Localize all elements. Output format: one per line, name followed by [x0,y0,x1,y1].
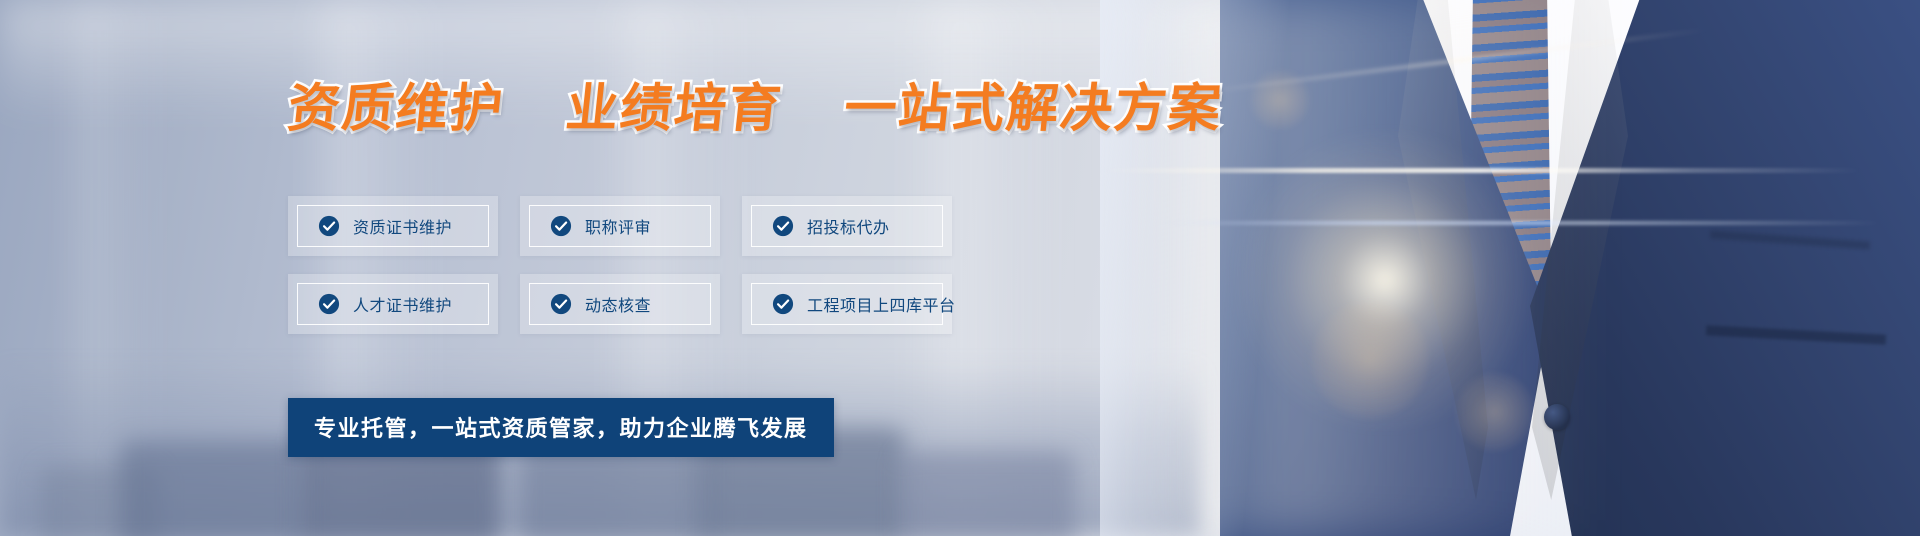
service-card-bidding-agency[interactable]: 招投标代办 [742,196,952,256]
headline-part-3: 一站式解决方案 [841,79,1225,139]
check-circle-icon [550,293,572,315]
service-card-qualification-cert[interactable]: 资质证书维护 [288,196,498,256]
banner-content: 资质维护 业绩培育 一站式解决方案 资质证书维护 [0,0,1920,536]
service-card-inner: 动态核查 [529,283,711,325]
service-card-grid: 资质证书维护 职称评审 [288,196,952,334]
check-circle-icon [772,293,794,315]
service-card-inner: 招投标代办 [751,205,943,247]
service-card-dynamic-audit[interactable]: 动态核查 [520,274,720,334]
service-card-label: 人才证书维护 [353,292,452,316]
headline: 资质维护 业绩培育 一站式解决方案 [285,80,1226,138]
tagline-banner: 专业托管，一站式资质管家，助力企业腾飞发展 [288,398,834,457]
service-card-title-review[interactable]: 职称评审 [520,196,720,256]
check-circle-icon [772,215,794,237]
service-card-inner: 工程项目上四库平台 [751,283,943,325]
check-circle-icon [318,293,340,315]
service-card-inner: 职称评审 [529,205,711,247]
service-card-row-2: 人才证书维护 动态核查 [288,274,952,334]
headline-part-1: 资质维护 [285,79,507,139]
service-card-inner: 人才证书维护 [297,283,489,325]
service-card-project-platform[interactable]: 工程项目上四库平台 [742,274,952,334]
service-card-label: 招投标代办 [807,214,890,238]
service-card-label: 工程项目上四库平台 [807,292,956,316]
check-circle-icon [318,215,340,237]
service-card-row-1: 资质证书维护 职称评审 [288,196,952,256]
hero-banner: 资质维护 业绩培育 一站式解决方案 资质证书维护 [0,0,1920,536]
service-card-label: 资质证书维护 [353,214,452,238]
check-circle-icon [550,215,572,237]
headline-part-2: 业绩培育 [563,79,785,139]
service-card-inner: 资质证书维护 [297,205,489,247]
service-card-label: 职称评审 [585,214,651,238]
service-card-label: 动态核查 [585,292,651,316]
service-card-talent-cert[interactable]: 人才证书维护 [288,274,498,334]
